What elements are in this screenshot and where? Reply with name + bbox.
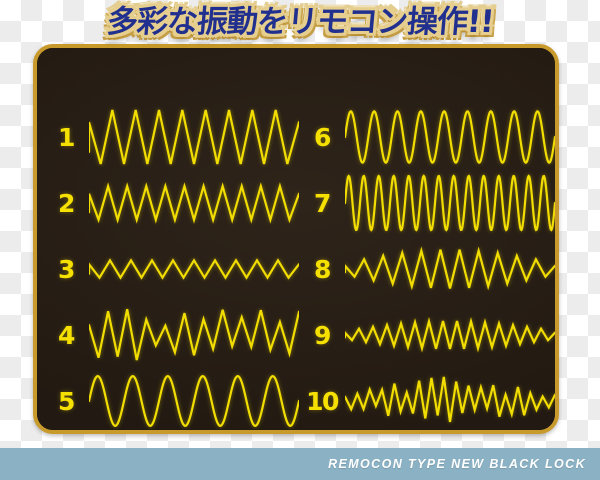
product-feature-graphic: 12345678910 多彩な振動をリモコン操作!! REMOCON TYPE … [0,0,600,480]
waveform-number-8: 8 [299,255,345,284]
waveform-row-6: 6 [299,106,555,168]
waveform-row-9: 9 [299,304,555,366]
waveform-number-10: 10 [299,387,345,416]
waveform-number-4: 4 [43,321,89,350]
waveform-number-1: 1 [43,123,89,152]
waveform-row-list: 12345678910 [37,48,555,430]
waveform-row-4: 4 [43,304,299,366]
waveform-row-8: 8 [299,238,555,300]
waveform-row-3: 3 [43,238,299,300]
waveform-graph-7 [345,172,555,234]
waveform-number-2: 2 [43,189,89,218]
waveform-graph-4 [89,304,299,366]
waveform-graph-9 [345,304,555,366]
waveform-row-10: 10 [299,370,555,432]
waveform-number-9: 9 [299,321,345,350]
waveform-row-1: 1 [43,106,299,168]
waveform-number-7: 7 [299,189,345,218]
waveform-graph-10 [345,370,555,432]
waveform-row-7: 7 [299,172,555,234]
waveform-number-3: 3 [43,255,89,284]
waveform-graph-3 [89,238,299,300]
waveform-graph-6 [345,106,555,168]
waveform-graph-1 [89,106,299,168]
waveform-number-6: 6 [299,123,345,152]
waveform-panel: 12345678910 [33,44,559,434]
waveform-row-2: 2 [43,172,299,234]
waveform-graph-8 [345,238,555,300]
waveform-number-5: 5 [43,387,89,416]
waveform-graph-2 [89,172,299,234]
footer-caption: REMOCON TYPE NEW BLACK LOCK [328,457,600,471]
waveform-graph-5 [89,370,299,432]
footer-bar: REMOCON TYPE NEW BLACK LOCK [0,448,600,480]
waveform-row-5: 5 [43,370,299,432]
